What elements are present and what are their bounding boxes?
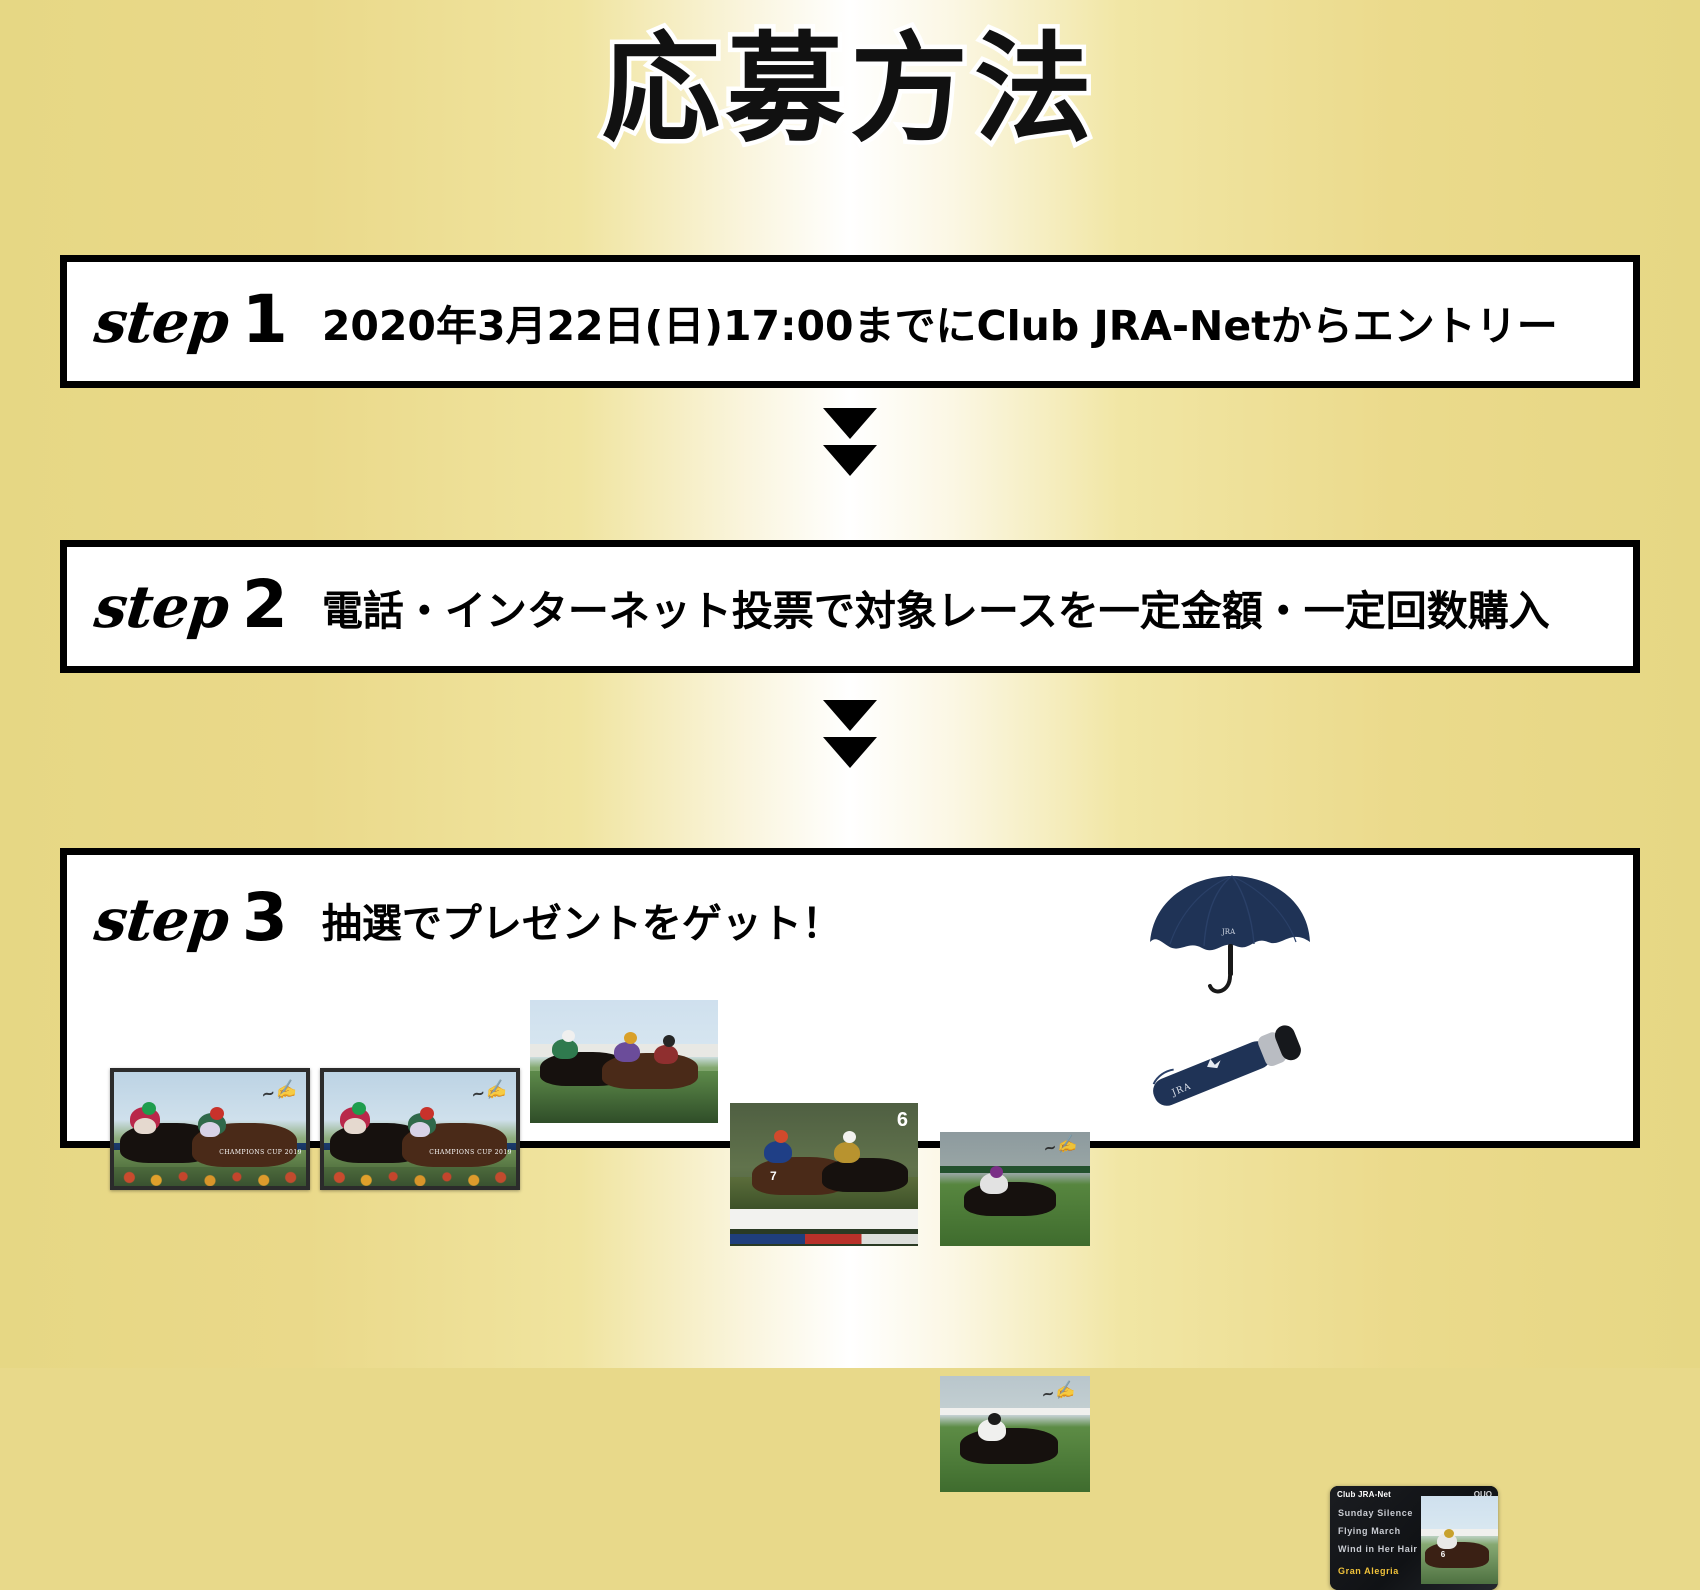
page-root: 応募方法 step 1 2020年3月22日(日)17:00までにClub JR… — [0, 0, 1700, 1368]
autograph-icon: ~✍ — [1039, 1379, 1076, 1405]
quo-card-photo: 6 — [1421, 1496, 1498, 1584]
step-2-word: step — [91, 573, 231, 641]
quo-card-logo: Club JRA-Net — [1337, 1490, 1391, 1499]
prize-image-strip: ~✍ CHAMPIONS CUP 2019 ~✍ CHAMPIONS CUP 2… — [0, 0, 1700, 1368]
chevron-down-icon — [823, 408, 877, 439]
page-title: 応募方法 — [0, 26, 1700, 153]
step-2-marker: step 2 — [67, 572, 288, 641]
step-1-number: 1 — [242, 287, 288, 353]
step-3-text: 抽選でプレゼントをゲット！ — [322, 891, 842, 949]
step-3-word: step — [91, 886, 231, 954]
prize-2-caption: CHAMPIONS CUP 2019 — [429, 1149, 512, 1156]
prize-signed-race-photo-top: ~✍ — [940, 1132, 1090, 1246]
step-3-number: 3 — [242, 885, 288, 951]
prize-quo-card: Club JRA-Net QUO Sunday Silence Flying M… — [1330, 1486, 1498, 1590]
step-2-text: 電話・インターネット投票で対象レースを一定金額・一定回数購入 — [322, 577, 1550, 637]
saddle-number-7: 7 — [770, 1169, 777, 1183]
step-3-marker: step 3 — [67, 885, 288, 954]
arrow-group-1 — [0, 408, 1700, 476]
chevron-down-icon — [823, 700, 877, 731]
step-1-text: 2020年3月22日(日)17:00までにClub JRA-Netからエントリー — [322, 292, 1558, 352]
step-box-3: step 3 抽選でプレゼントをゲット！ — [60, 848, 1640, 1148]
step-2-number: 2 — [242, 572, 288, 638]
arrow-group-2 — [0, 700, 1700, 768]
prize-signed-race-photo-bottom: ~✍ — [940, 1376, 1090, 1492]
quo-card-horse-3: Wind in Her Hair — [1338, 1544, 1418, 1554]
step-1-marker: step 1 — [67, 287, 288, 356]
prize-1-caption: CHAMPIONS CUP 2019 — [219, 1149, 302, 1156]
step-box-2: step 2 電話・インターネット投票で対象レースを一定金額・一定回数購入 — [60, 540, 1640, 673]
quo-card-horse-2: Flying March — [1338, 1526, 1401, 1536]
step-3-header: step 3 抽選でプレゼントをゲット！ — [67, 855, 1633, 954]
quo-card-horse-4: Gran Alegria — [1338, 1566, 1399, 1576]
quo-card-horse-1: Sunday Silence — [1338, 1508, 1413, 1518]
chevron-down-icon — [823, 737, 877, 768]
step-1-word: step — [91, 288, 231, 356]
quo-card-brand: QUO — [1474, 1490, 1492, 1499]
step-box-1: step 1 2020年3月22日(日)17:00までにClub JRA-Net… — [60, 255, 1640, 388]
chevron-down-icon — [823, 445, 877, 476]
